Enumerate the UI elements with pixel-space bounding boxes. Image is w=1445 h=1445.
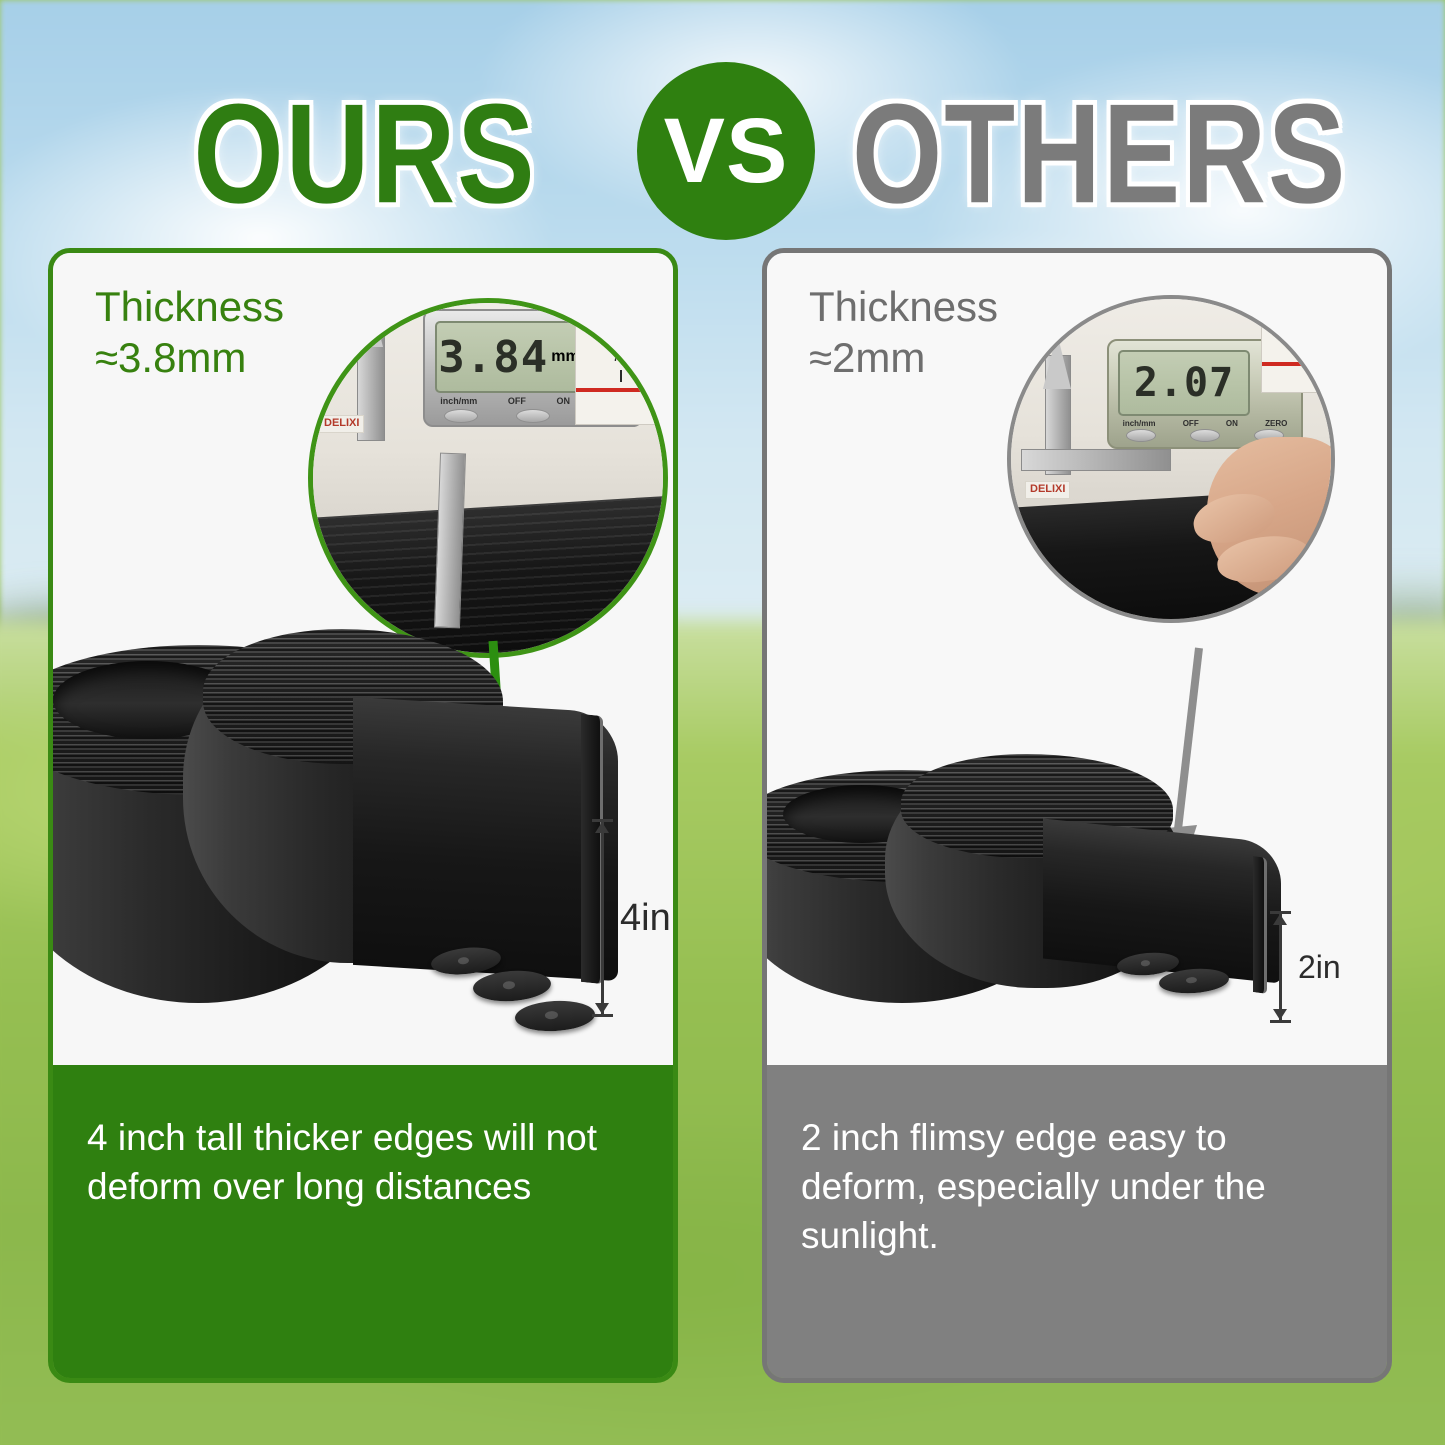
vs-label: VS — [664, 105, 789, 197]
edging-strip — [353, 697, 618, 981]
vs-badge: VS — [637, 62, 815, 240]
comparison-infographic: OURS VS OTHERS Thickness ≈3.8mm DELIXI 3… — [0, 0, 1445, 1445]
ours-photo: Thickness ≈3.8mm DELIXI 3.84 mm inch/mm — [53, 253, 673, 1065]
edging-strip-edge — [1253, 856, 1267, 994]
edging-strip-edge — [581, 714, 603, 984]
others-caption: 2 inch flimsy edge easy to deform, espec… — [767, 1065, 1387, 1378]
others-dimension: 2in — [1279, 911, 1341, 1023]
ours-card: Thickness ≈3.8mm DELIXI 3.84 mm inch/mm — [48, 248, 678, 1383]
headline: OURS VS OTHERS — [0, 62, 1445, 242]
others-photo: Thickness ≈2mm DELIXI 2.07 inch/mm OFF — [767, 253, 1387, 1065]
ours-caption: 4 inch tall thicker edges will not defor… — [53, 1065, 673, 1378]
others-card: Thickness ≈2mm DELIXI 2.07 inch/mm OFF — [762, 248, 1392, 1383]
others-dimension-label: 2in — [1298, 949, 1341, 986]
headline-ours: OURS — [150, 62, 580, 245]
headline-others: OTHERS — [852, 62, 1322, 245]
ours-dimension-label: 4in — [620, 897, 671, 940]
ours-dimension: 4in — [601, 819, 671, 1017]
